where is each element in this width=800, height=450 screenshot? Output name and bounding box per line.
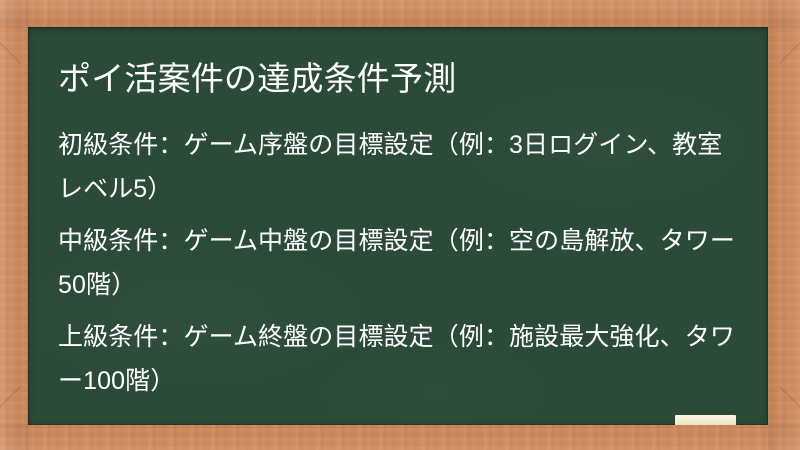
chalk-stick-icon <box>675 415 736 425</box>
frame-right-shading <box>768 0 800 450</box>
list-item: 上級条件：ゲーム終盤の目標設定（例：施設最大強化、タワー100階） <box>58 315 744 403</box>
list-item: 中級条件：ゲーム中盤の目標設定（例：空の島解放、タワー50階） <box>58 219 744 307</box>
condition-list: 初級条件：ゲーム序盤の目標設定（例：3日ログイン、教室レベル5） 中級条件：ゲー… <box>58 123 744 403</box>
list-item: 初級条件：ゲーム序盤の目標設定（例：3日ログイン、教室レベル5） <box>58 123 744 211</box>
frame-top-shading <box>0 0 800 28</box>
frame-left-shading <box>0 0 28 450</box>
chalkboard-surface: ポイ活案件の達成条件予測 初級条件：ゲーム序盤の目標設定（例：3日ログイン、教室… <box>28 27 768 425</box>
chalkboard-slide: ポイ活案件の達成条件予測 初級条件：ゲーム序盤の目標設定（例：3日ログイン、教室… <box>0 0 800 450</box>
frame-bottom-shading <box>0 424 800 450</box>
slide-title: ポイ活案件の達成条件予測 <box>58 57 748 101</box>
